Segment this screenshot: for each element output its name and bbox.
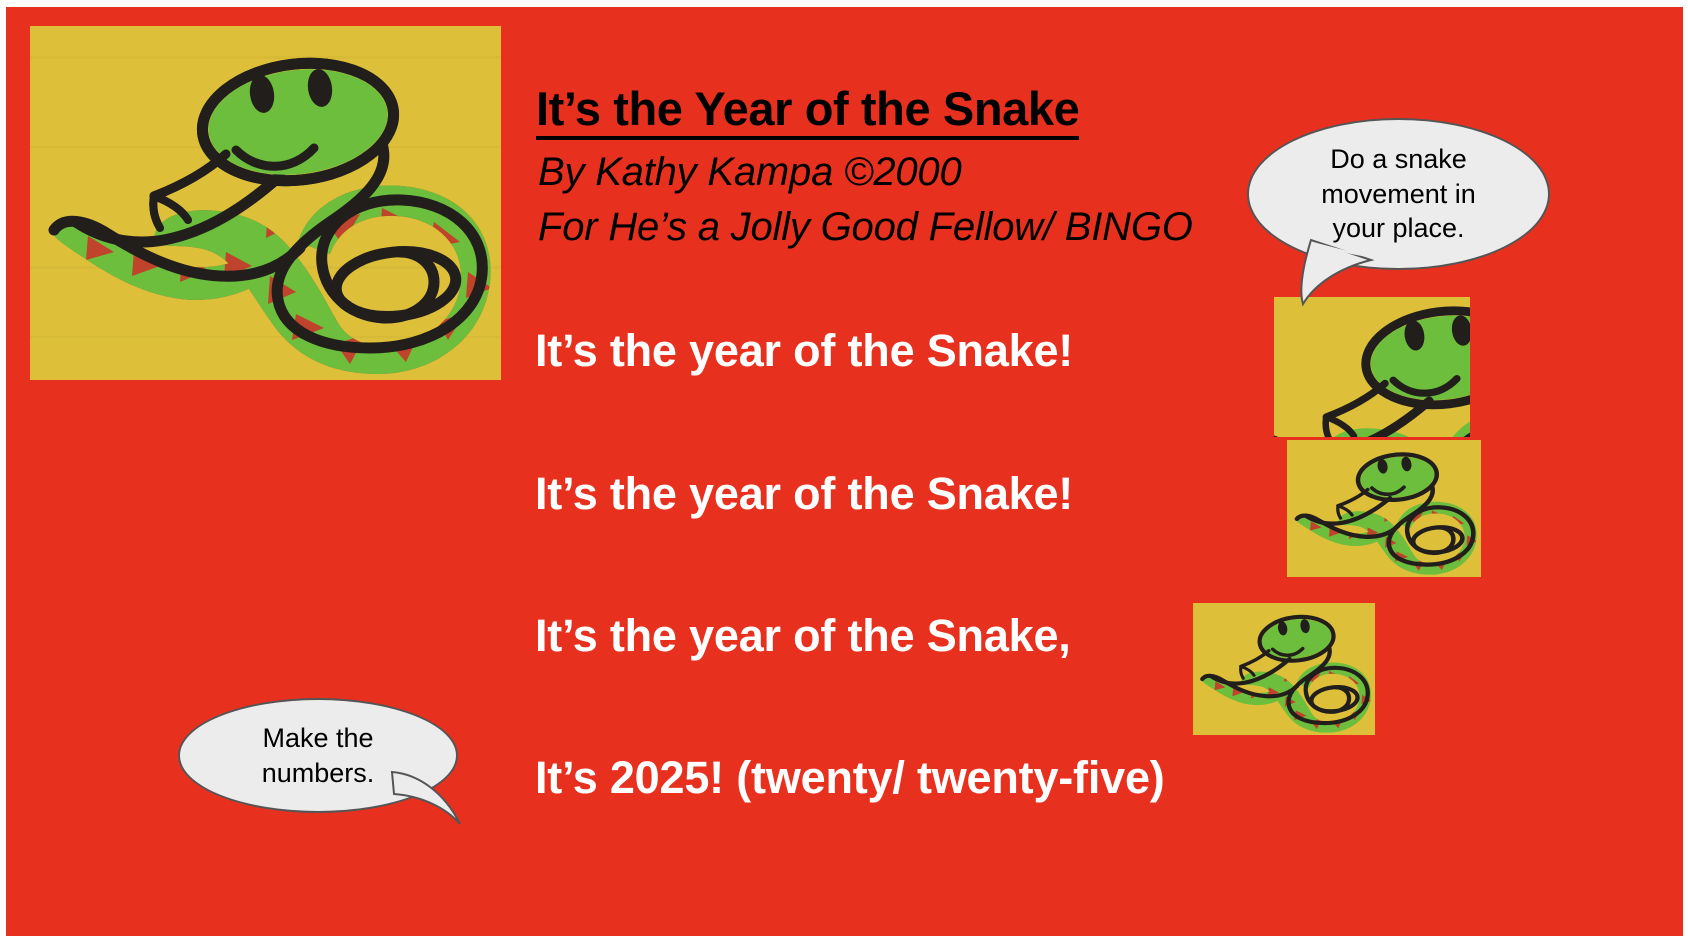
bubble-line: numbers. <box>262 756 375 791</box>
byline-author: By Kathy Kampa ©2000 <box>538 150 962 195</box>
lyric-line-3: It’s the year of the Snake, <box>535 610 1071 662</box>
slide-border-left <box>0 0 6 944</box>
speech-bubble-do-a-snake-movement: Do a snake movement in your place. <box>1247 118 1550 270</box>
bubble-line: Make the <box>262 721 373 756</box>
bubble-line: Do a snake <box>1330 142 1467 177</box>
lyric-line-4: It’s 2025! (twenty/ twenty-five) <box>535 752 1165 804</box>
bubble-line: movement in <box>1321 177 1476 212</box>
speech-bubble-text: Do a snake movement in your place. <box>1247 118 1550 270</box>
slide-border-bottom <box>0 936 1688 944</box>
snake-thumbnail-3 <box>1193 603 1375 735</box>
page-title-text: It’s the Year of the Snake <box>536 82 1079 140</box>
lyric-line-1: It’s the year of the Snake! <box>535 325 1073 377</box>
snake-thumbnail-2 <box>1287 440 1481 577</box>
snake-thumbnail-1 <box>1274 297 1470 437</box>
speech-bubble-make-the-numbers: Make the numbers. <box>178 698 458 813</box>
snake-painting-main <box>30 26 501 380</box>
page-title: It’s the Year of the Snake <box>536 81 1079 136</box>
speech-bubble-text: Make the numbers. <box>178 698 458 813</box>
bubble-line: your place. <box>1332 211 1464 246</box>
slide-border-right <box>1683 0 1688 944</box>
slide-border-top <box>0 0 1688 7</box>
lyric-line-2: It’s the year of the Snake! <box>535 468 1073 520</box>
slide-canvas: It’s the Year of the Snake By Kathy Kamp… <box>0 0 1688 944</box>
byline-tune: For He’s a Jolly Good Fellow/ BINGO <box>538 205 1193 250</box>
